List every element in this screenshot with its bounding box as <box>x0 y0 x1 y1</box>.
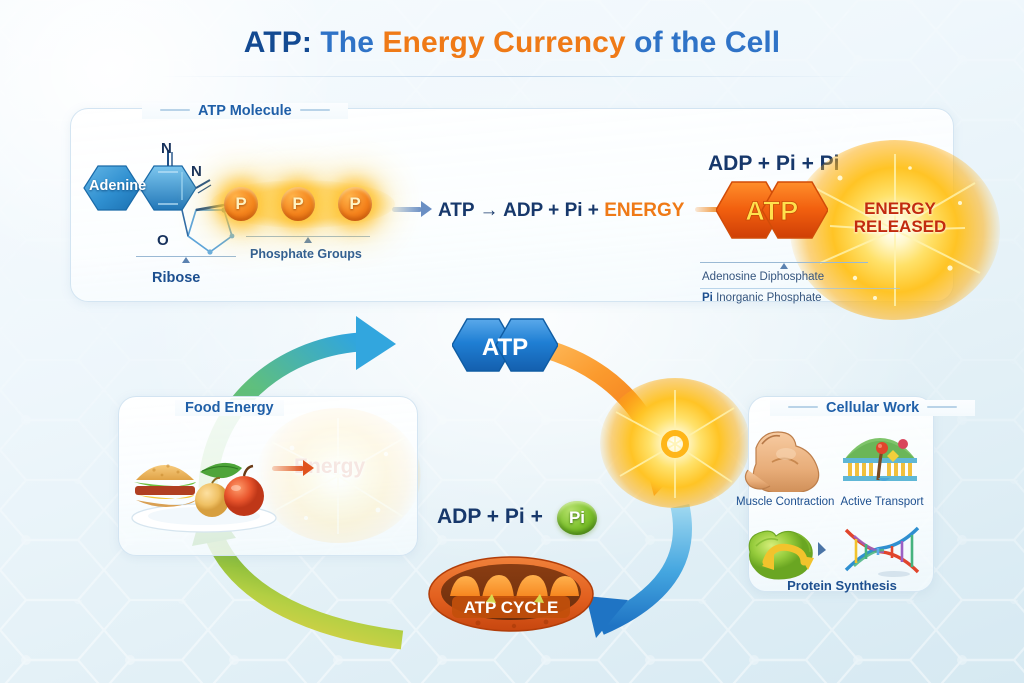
equation-product-pi: Pi <box>565 200 583 221</box>
food-energy-title-text: Food Energy <box>185 400 274 416</box>
atp-molecule-panel-title: ATP Molecule <box>142 103 348 119</box>
energy-released-line-2: RELEASED <box>850 218 950 236</box>
food-energy-panel-title: Food Energy <box>175 400 284 416</box>
protein-synthesis-label: Protein Synthesis <box>752 578 932 593</box>
legend-adp-text: Adenosine Diphosphate <box>702 271 824 283</box>
cellular-work-panel-title: Cellular Work <box>770 400 975 416</box>
title-dash-right <box>300 109 330 111</box>
page-title: ATP: The Energy Currency of the Cell <box>0 26 1024 60</box>
phosphate-3-label: P <box>349 194 360 214</box>
atp-hexagon-badge-top: ATP <box>716 178 828 242</box>
phosphate-brace <box>246 236 370 237</box>
hydrolysis-equation: ATP → ADP + Pi + ENERGY <box>438 200 684 222</box>
title-part-of-the-cell: of the Cell <box>634 26 780 59</box>
svg-text:ATP CYCLE: ATP CYCLE <box>464 598 559 617</box>
title-part-energy-currency: Energy Currency <box>382 26 625 59</box>
arrow-food-to-energy <box>272 466 304 471</box>
phosphate-group-2: P <box>281 187 315 221</box>
adenine-label: Adenine <box>89 178 146 194</box>
pi-circle-label: Pi <box>569 508 585 528</box>
protein-folding-icon <box>744 522 828 580</box>
ribose-label: Ribose <box>152 270 200 286</box>
muscle-contraction-label: Muscle Contraction <box>736 496 832 508</box>
equation-arrow: → <box>480 200 499 221</box>
phosphate-1-label: P <box>235 194 246 214</box>
products-heading: ADP + Pi + Pi <box>708 152 840 176</box>
mitochondrion-icon: ATP CYCLE <box>428 556 594 632</box>
atom-label-o1: O <box>157 232 169 249</box>
atp-molecule-title-text: ATP Molecule <box>198 103 292 119</box>
work-dash-left <box>788 406 818 408</box>
svg-text:ATP: ATP <box>482 334 528 361</box>
flexed-biceps-icon <box>742 430 826 492</box>
phosphate-groups-label: Phosphate Groups <box>250 247 362 261</box>
ribose-brace <box>136 256 236 257</box>
equation-product-energy: ENERGY <box>604 200 684 221</box>
phosphate-group-1: P <box>224 187 258 221</box>
cycle-equation: ADP + Pi + <box>437 505 543 529</box>
active-transport-label: Active Transport <box>836 496 928 508</box>
title-part-the: The <box>320 26 374 59</box>
atom-label-n1: N <box>161 140 172 157</box>
equation-product-adp: ADP <box>503 200 543 221</box>
legend-divider <box>700 288 900 289</box>
equation-plus-1: + <box>548 200 559 221</box>
title-dash-left <box>160 109 190 111</box>
pi-circle-badge: Pi <box>557 501 597 535</box>
food-plate-icon <box>126 438 286 534</box>
work-dash-right <box>927 406 957 408</box>
equation-reactant: ATP <box>438 200 474 221</box>
equation-plus-2: + <box>588 200 599 221</box>
dna-helix-icon <box>840 524 924 578</box>
legend-adenosine-diphosphate: Adenosine Diphosphate <box>702 271 824 283</box>
energy-released-label: ENERGY RELEASED <box>850 200 950 237</box>
phosphate-2-label: P <box>292 194 303 214</box>
atom-label-n2: N <box>191 163 202 180</box>
atp-hexagon-badge-cycle: ATP <box>452 316 558 374</box>
svg-text:ATP: ATP <box>745 196 799 226</box>
phosphate-group-3: P <box>338 187 372 221</box>
adp-pointer-brace <box>700 262 868 263</box>
membrane-pump-icon <box>840 430 920 492</box>
arrow-to-equation <box>392 207 422 212</box>
title-part-atp: ATP: <box>244 26 312 59</box>
cellular-work-title-text: Cellular Work <box>826 400 919 416</box>
energy-released-line-1: ENERGY <box>850 200 950 218</box>
title-divider <box>160 76 864 77</box>
